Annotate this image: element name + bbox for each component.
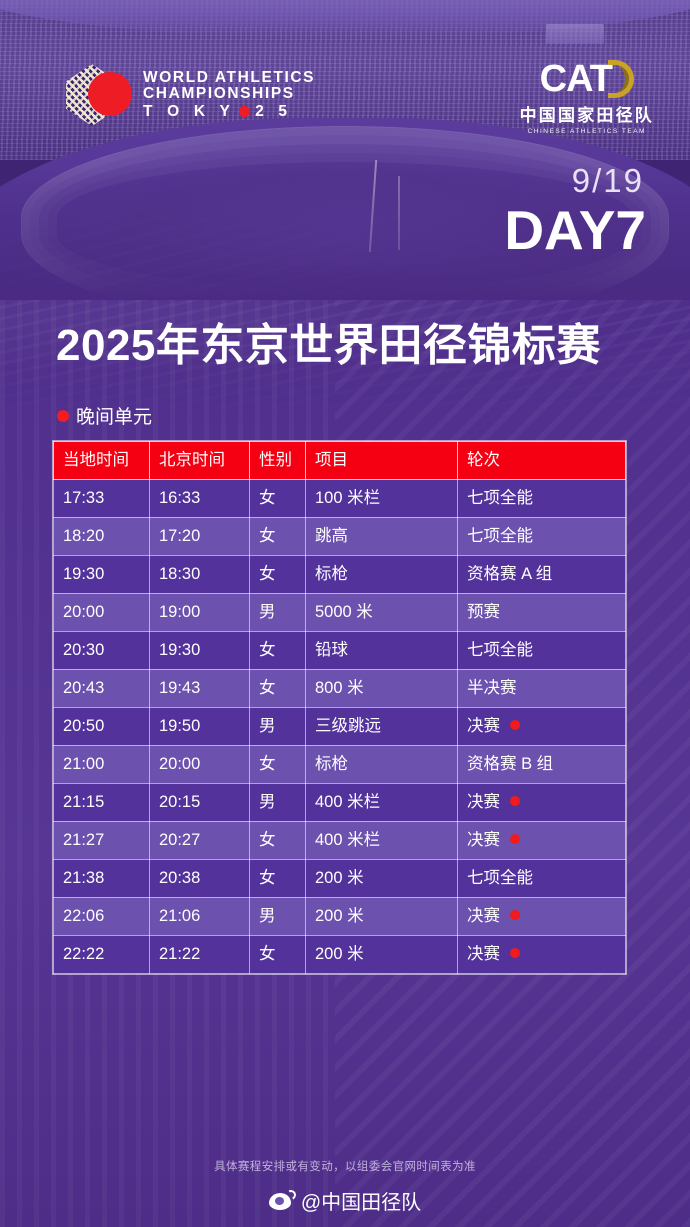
schedule-cell-round: 资格赛 A 组 xyxy=(458,555,626,593)
schedule-cell-beijing-time: 20:15 xyxy=(150,783,250,821)
schedule-cell-beijing-time: 16:33 xyxy=(150,479,250,517)
schedule-cell-local-time: 17:33 xyxy=(54,479,150,517)
wa-tokyo-text: T O K Y xyxy=(143,104,235,120)
schedule-cell-local-time: 20:00 xyxy=(54,593,150,631)
wa-line-1: WORLD ATHLETICS xyxy=(143,70,315,86)
schedule-cell-local-time: 21:27 xyxy=(54,821,150,859)
schedule-cell-event: 200 米 xyxy=(306,897,458,935)
footer-social-handle[interactable]: @中国田径队 xyxy=(0,1186,690,1215)
schedule-cell-local-time: 20:30 xyxy=(54,631,150,669)
schedule-cell-beijing-time: 19:00 xyxy=(150,593,250,631)
schedule-cell-local-time: 18:20 xyxy=(54,517,150,555)
weibo-icon xyxy=(269,1191,295,1211)
schedule-cell-round: 决赛 xyxy=(458,935,626,973)
column-header-beijing-time: 北京时间 xyxy=(150,442,250,480)
table-row: 21:3820:38女200 米七项全能 xyxy=(54,859,626,897)
schedule-cell-event: 400 米栏 xyxy=(306,821,458,859)
schedule-cell-event: 200 米 xyxy=(306,859,458,897)
world-athletics-wordmark: WORLD ATHLETICS CHAMPIONSHIPS T O K Y 2 … xyxy=(143,70,315,120)
schedule-cell-event: 800 米 xyxy=(306,669,458,707)
schedule-cell-local-time: 20:50 xyxy=(54,707,150,745)
table-row: 22:2221:22女200 米决赛 xyxy=(54,935,626,973)
chinese-athletics-team-logo: CAT 中国国家田径队 CHINESE ATHLETICS TEAM xyxy=(520,60,654,135)
schedule-cell-round: 七项全能 xyxy=(458,479,626,517)
schedule-cell-event: 三级跳远 xyxy=(306,707,458,745)
session-label: 晚间单元 xyxy=(57,402,152,429)
schedule-table: 当地时间 北京时间 性别 项目 轮次 17:3316:33女100 米栏七项全能… xyxy=(53,441,626,974)
schedule-cell-gender: 男 xyxy=(250,707,306,745)
final-marker-dot-icon xyxy=(510,910,520,920)
schedule-cell-gender: 男 xyxy=(250,593,306,631)
schedule-cell-gender: 女 xyxy=(250,631,306,669)
schedule-cell-beijing-time: 21:22 xyxy=(150,935,250,973)
schedule-cell-gender: 女 xyxy=(250,935,306,973)
table-row: 19:3018:30女标枪资格赛 A 组 xyxy=(54,555,626,593)
tokyo-red-dot-icon xyxy=(239,106,250,117)
schedule-cell-beijing-time: 20:27 xyxy=(150,821,250,859)
schedule-cell-local-time: 22:22 xyxy=(54,935,150,973)
column-header-event: 项目 xyxy=(306,442,458,480)
schedule-cell-event: 铅球 xyxy=(306,631,458,669)
schedule-cell-round: 资格赛 B 组 xyxy=(458,745,626,783)
schedule-cell-local-time: 21:15 xyxy=(54,783,150,821)
table-row: 21:0020:00女标枪资格赛 B 组 xyxy=(54,745,626,783)
schedule-cell-local-time: 19:30 xyxy=(54,555,150,593)
final-marker-dot-icon xyxy=(510,796,520,806)
schedule-cell-beijing-time: 18:30 xyxy=(150,555,250,593)
table-row: 20:4319:43女800 米半决赛 xyxy=(54,669,626,707)
schedule-cell-beijing-time: 17:20 xyxy=(150,517,250,555)
table-row: 20:5019:50男三级跳远决赛 xyxy=(54,707,626,745)
cat-wordmark-row: CAT xyxy=(520,60,654,98)
poster-root: WORLD ATHLETICS CHAMPIONSHIPS T O K Y 2 … xyxy=(0,0,690,1227)
page-title: 2025年东京世界田径锦标赛 xyxy=(56,324,601,368)
schedule-cell-local-time: 20:43 xyxy=(54,669,150,707)
schedule-cell-gender: 男 xyxy=(250,897,306,935)
cat-swoosh-icon xyxy=(608,60,634,98)
schedule-cell-event: 200 米 xyxy=(306,935,458,973)
schedule-cell-local-time: 22:06 xyxy=(54,897,150,935)
schedule-cell-round: 决赛 xyxy=(458,821,626,859)
final-marker-dot-icon xyxy=(510,834,520,844)
table-row: 21:1520:15男400 米栏决赛 xyxy=(54,783,626,821)
event-day-number: DAY7 xyxy=(504,203,646,258)
schedule-cell-round: 半决赛 xyxy=(458,669,626,707)
schedule-cell-event: 5000 米 xyxy=(306,593,458,631)
schedule-cell-gender: 女 xyxy=(250,479,306,517)
schedule-cell-round: 七项全能 xyxy=(458,517,626,555)
column-header-gender: 性别 xyxy=(250,442,306,480)
schedule-cell-gender: 女 xyxy=(250,745,306,783)
table-row: 20:0019:00男5000 米预赛 xyxy=(54,593,626,631)
column-header-local-time: 当地时间 xyxy=(54,442,150,480)
final-marker-dot-icon xyxy=(510,948,520,958)
wa-line-2: CHAMPIONSHIPS xyxy=(143,86,315,102)
cat-english-name: CHINESE ATHLETICS TEAM xyxy=(520,128,654,135)
schedule-cell-event: 100 米栏 xyxy=(306,479,458,517)
schedule-cell-local-time: 21:38 xyxy=(54,859,150,897)
final-marker-dot-icon xyxy=(510,720,520,730)
schedule-cell-event: 跳高 xyxy=(306,517,458,555)
schedule-cell-beijing-time: 21:06 xyxy=(150,897,250,935)
logo-red-circle-icon xyxy=(88,72,132,116)
schedule-cell-gender: 女 xyxy=(250,555,306,593)
schedule-cell-event: 标枪 xyxy=(306,555,458,593)
footer-disclaimer: 具体赛程安排或有变动，以组委会官网时间表为准 xyxy=(0,1158,690,1174)
session-label-text: 晚间单元 xyxy=(76,402,152,429)
world-athletics-mark-icon xyxy=(66,64,132,126)
wa-year-text: 2 5 xyxy=(255,104,292,120)
session-bullet-icon xyxy=(57,410,69,422)
schedule-cell-round: 决赛 xyxy=(458,897,626,935)
weibo-pupil-shape xyxy=(275,1197,284,1205)
schedule-cell-beijing-time: 19:50 xyxy=(150,707,250,745)
schedule-cell-round: 七项全能 xyxy=(458,859,626,897)
schedule-cell-event: 标枪 xyxy=(306,745,458,783)
world-athletics-logo: WORLD ATHLETICS CHAMPIONSHIPS T O K Y 2 … xyxy=(66,64,315,126)
schedule-cell-round: 七项全能 xyxy=(458,631,626,669)
wa-line-3: T O K Y 2 5 xyxy=(143,104,315,120)
schedule-cell-gender: 女 xyxy=(250,859,306,897)
schedule-cell-round: 决赛 xyxy=(458,707,626,745)
table-row: 21:2720:27女400 米栏决赛 xyxy=(54,821,626,859)
schedule-cell-gender: 女 xyxy=(250,821,306,859)
table-row: 18:2017:20女跳高七项全能 xyxy=(54,517,626,555)
schedule-cell-round: 决赛 xyxy=(458,783,626,821)
schedule-cell-beijing-time: 19:30 xyxy=(150,631,250,669)
schedule-cell-beijing-time: 20:00 xyxy=(150,745,250,783)
schedule-table-wrapper: 当地时间 北京时间 性别 项目 轮次 17:3316:33女100 米栏七项全能… xyxy=(53,441,625,974)
schedule-cell-beijing-time: 20:38 xyxy=(150,859,250,897)
schedule-cell-beijing-time: 19:43 xyxy=(150,669,250,707)
table-header-row: 当地时间 北京时间 性别 项目 轮次 xyxy=(54,442,626,480)
table-row: 20:3019:30女铅球七项全能 xyxy=(54,631,626,669)
schedule-cell-gender: 女 xyxy=(250,669,306,707)
table-row: 17:3316:33女100 米栏七项全能 xyxy=(54,479,626,517)
table-row: 22:0621:06男200 米决赛 xyxy=(54,897,626,935)
cat-chinese-name: 中国国家田径队 xyxy=(520,101,654,126)
column-header-round: 轮次 xyxy=(458,442,626,480)
schedule-cell-gender: 女 xyxy=(250,517,306,555)
schedule-cell-gender: 男 xyxy=(250,783,306,821)
event-date: 9/19 xyxy=(572,164,644,197)
cat-wordmark: CAT xyxy=(540,60,612,98)
schedule-table-body: 17:3316:33女100 米栏七项全能18:2017:20女跳高七项全能19… xyxy=(54,479,626,973)
schedule-cell-round: 预赛 xyxy=(458,593,626,631)
footer-handle-text: @中国田径队 xyxy=(301,1186,421,1215)
schedule-cell-event: 400 米栏 xyxy=(306,783,458,821)
schedule-cell-local-time: 21:00 xyxy=(54,745,150,783)
